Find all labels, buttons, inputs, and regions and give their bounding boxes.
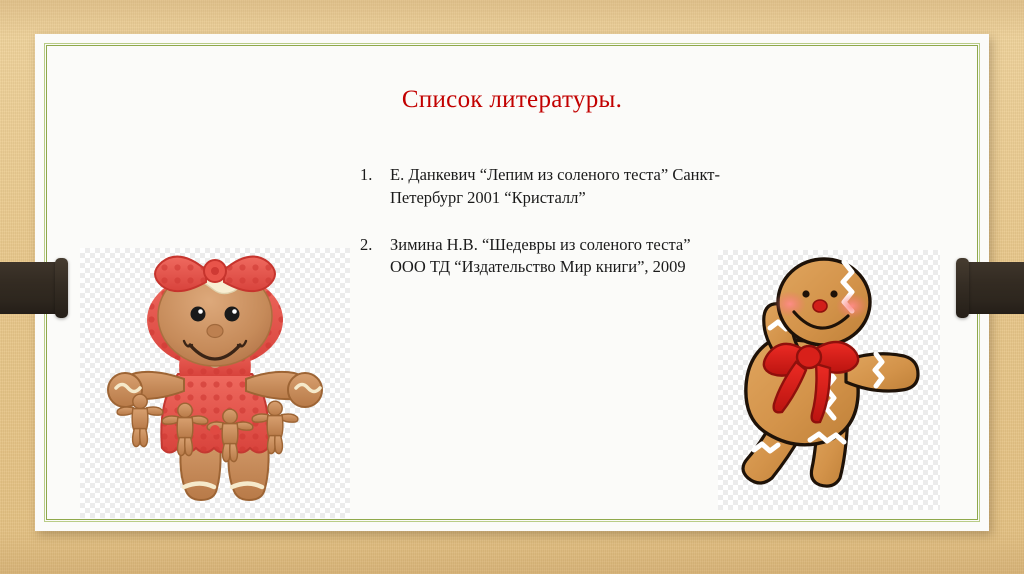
image-panel-gingerbread-girl [80, 248, 350, 518]
reference-list: 1. Е. Данкевич “Лепим из соленого теста”… [360, 164, 730, 303]
wood-grain-top-decoration [0, 0, 1024, 38]
gingerbread-girl-image [80, 248, 350, 518]
gingerbread-man-image [718, 250, 940, 510]
list-item-text: Е. Данкевич “Лепим из соленого теста” Са… [390, 164, 730, 210]
ribbon-bar-right [958, 262, 1024, 314]
ribbon-bar-left [0, 262, 66, 314]
list-item: 1. Е. Данкевич “Лепим из соленого теста”… [360, 164, 730, 210]
wood-grain-bottom-decoration [0, 530, 1024, 574]
slide-card: Список литературы. 1. Е. Данкевич “Лепим… [35, 34, 989, 531]
list-item-text: Зимина Н.В. “Шедевры из соленого теста” … [390, 234, 730, 280]
list-item: 2. Зимина Н.В. “Шедевры из соленого тест… [360, 234, 730, 280]
list-item-number: 2. [360, 234, 390, 257]
page-title: Список литературы. [35, 86, 989, 114]
list-item-number: 1. [360, 164, 390, 187]
image-panel-gingerbread-man [718, 250, 940, 510]
